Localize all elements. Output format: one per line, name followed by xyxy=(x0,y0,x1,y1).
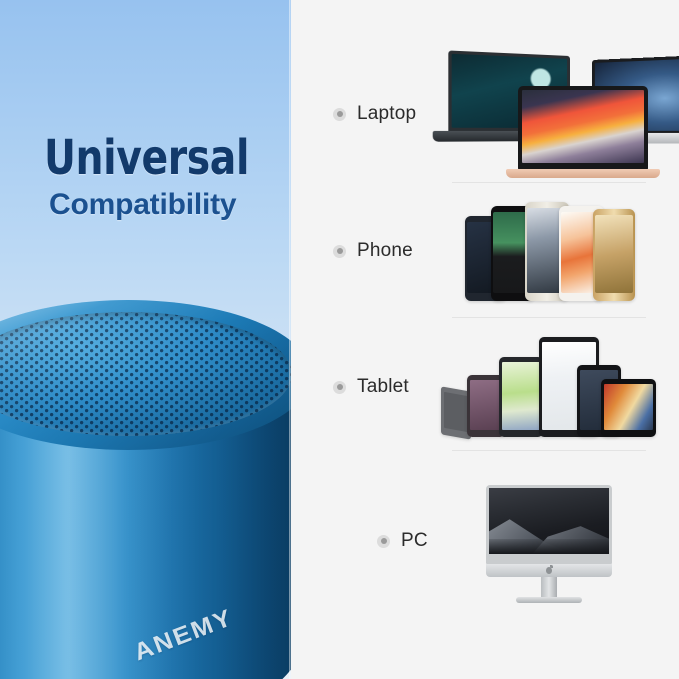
green-screen-tablet xyxy=(499,357,543,437)
headline-block: Universal Compatibility xyxy=(44,133,284,223)
hero-panel: Universal Compatibility ANEMY xyxy=(0,0,291,679)
macbook-screen xyxy=(522,90,644,163)
gold-phone xyxy=(593,209,635,301)
imac-stand-neck xyxy=(541,577,557,599)
macbook-base xyxy=(506,169,660,178)
row-label-phone: Phone xyxy=(333,240,413,262)
radio-bullet-icon xyxy=(333,108,346,121)
product-feature-image: Universal Compatibility ANEMY Laptop xyxy=(0,0,679,679)
row-label-tablet: Tablet xyxy=(333,376,409,398)
imac-stand-foot xyxy=(516,597,582,603)
tablet-device-cluster xyxy=(441,332,656,437)
pc-device-cluster xyxy=(486,485,612,605)
imac-chin xyxy=(486,564,612,577)
compatibility-list: Laptop Phone xyxy=(291,0,679,679)
laptop-device-cluster xyxy=(452,56,657,166)
row-label-text: Tablet xyxy=(357,376,409,398)
headline-primary: Universal xyxy=(44,133,241,183)
imac-screen-wallpaper xyxy=(489,488,609,554)
row-label-text: PC xyxy=(401,530,428,552)
row-label-pc: PC xyxy=(377,530,428,552)
row-label-text: Phone xyxy=(357,240,413,262)
bluetooth-speaker-product-image: ANEMY xyxy=(0,300,291,679)
compatibility-row-phone[interactable]: Phone xyxy=(291,183,679,317)
gold-macbook-air xyxy=(518,86,648,170)
phone-device-cluster xyxy=(453,197,658,301)
radio-bullet-icon xyxy=(377,535,390,548)
silver-imac-desktop xyxy=(486,485,612,564)
compatibility-row-tablet[interactable]: Tablet xyxy=(291,318,679,451)
compatibility-row-laptop[interactable]: Laptop xyxy=(291,0,679,180)
kindle-fire-tablet xyxy=(601,379,656,437)
radio-bullet-icon xyxy=(333,245,346,258)
imac-wallpaper-foreground xyxy=(489,539,609,554)
row-label-laptop: Laptop xyxy=(333,103,416,125)
headline-secondary: Compatibility xyxy=(49,187,284,223)
row-divider xyxy=(452,450,646,451)
apple-logo-icon xyxy=(546,567,552,574)
radio-bullet-icon xyxy=(333,381,346,394)
speaker-grille xyxy=(0,312,291,436)
compatibility-row-pc[interactable]: PC xyxy=(291,452,679,632)
row-label-text: Laptop xyxy=(357,103,416,125)
